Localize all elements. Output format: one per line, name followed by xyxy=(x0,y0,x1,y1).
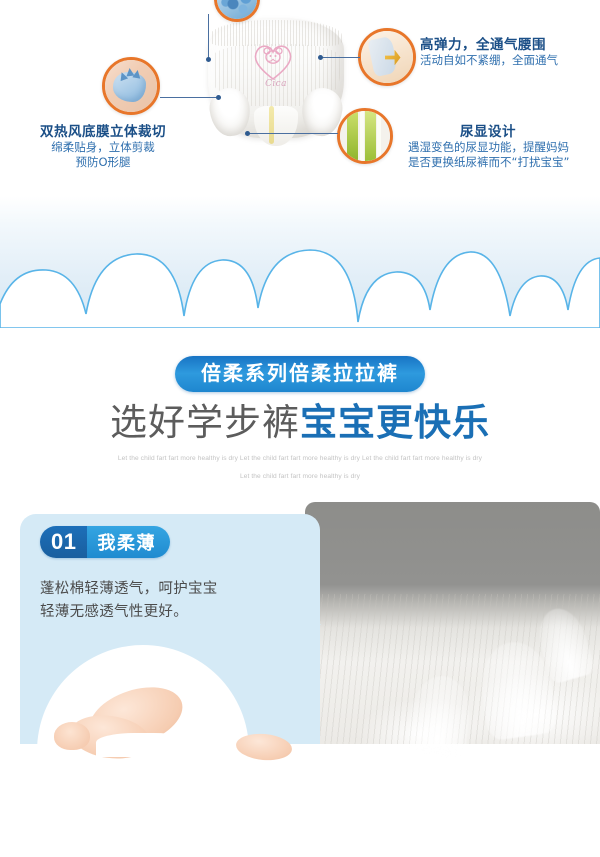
fiber-closeup-photo xyxy=(305,502,600,744)
heart-bear-logo-icon xyxy=(250,40,296,82)
feature-01-description: 蓬松棉轻薄透气，呵护宝宝 轻薄无感透气性更好。 xyxy=(40,578,290,624)
product-features-section: Cica 双热 xyxy=(0,0,600,200)
connector-dot-top xyxy=(206,57,211,62)
connector-dot-wet xyxy=(245,131,250,136)
page-title: 选好学步裤宝宝更快乐 xyxy=(0,400,600,446)
english-subtitle-line2: Let the child fart fart more healthy is … xyxy=(0,472,600,482)
series-pill-badge: 倍柔系列倍柔拉拉裤 xyxy=(175,356,425,392)
cloud-wave-shape xyxy=(0,196,600,328)
feature-01-badge-text: 我柔薄 xyxy=(87,526,170,558)
callout-elastic-cut: 双热风底膜立体裁切 绵柔贴身，立体剪裁 预防O形腿 xyxy=(8,120,198,170)
connector-line-elastic xyxy=(160,97,218,98)
product-image-diaper: Cica xyxy=(196,14,356,174)
connector-line-wet xyxy=(248,133,338,134)
callout-waist-title: 高弹力，全通气腰围 xyxy=(420,33,558,53)
baby-hand xyxy=(54,722,90,750)
page-title-blue: 宝宝更快乐 xyxy=(300,401,490,444)
diaper-crotch xyxy=(254,106,298,146)
headline-section: 倍柔系列倍柔拉拉裤 选好学步裤宝宝更快乐 Let the child fart … xyxy=(0,328,600,488)
callout-wetness-line1: 遇湿变色的尿显功能，提醒妈妈 xyxy=(408,140,569,155)
waistband-icon xyxy=(358,28,416,86)
cloud-divider-band xyxy=(0,196,600,328)
brand-mark: Cica xyxy=(254,78,298,90)
feature-01-description-line2: 轻薄无感透气性更好。 xyxy=(40,601,290,624)
connector-dot-elastic xyxy=(216,95,221,100)
elastic-fit-icon xyxy=(102,57,160,115)
wetness-indicator-icon xyxy=(337,108,393,164)
panel-speech-tail xyxy=(303,624,321,646)
feature-01-badge-number: 01 xyxy=(40,526,87,558)
connector-line-waist xyxy=(322,57,360,58)
baby-diaper xyxy=(96,733,192,757)
feature-01-badge: 01 我柔薄 xyxy=(40,526,170,558)
callout-wetness-title: 尿显设计 xyxy=(408,120,568,140)
callout-elastic-cut-line1: 绵柔贴身，立体剪裁 xyxy=(8,140,198,155)
feature-01-description-line1: 蓬松棉轻薄透气，呵护宝宝 xyxy=(40,578,290,601)
callout-wetness-line2: 是否更换纸尿裤而不“打扰宝宝” xyxy=(408,155,569,170)
connector-dot-waist xyxy=(318,55,323,60)
callout-wetness: 尿显设计 遇湿变色的尿显功能，提醒妈妈 是否更换纸尿裤而不“打扰宝宝” xyxy=(408,120,569,170)
connector-line-top xyxy=(208,14,209,60)
callout-waist-line1: 活动自如不紧绷，全面通气 xyxy=(420,53,558,68)
callout-elastic-cut-line2: 预防O形腿 xyxy=(8,155,198,170)
callout-elastic-cut-title: 双热风底膜立体裁切 xyxy=(8,120,198,140)
callout-waist: 高弹力，全通气腰围 活动自如不紧绷，全面通气 xyxy=(420,33,558,68)
wetness-stripe xyxy=(269,106,274,144)
molecule-icon xyxy=(214,0,260,22)
english-subtitle-line1: Let the child fart fart more healthy is … xyxy=(0,454,600,464)
page-title-grey: 选好学步裤 xyxy=(110,401,300,444)
